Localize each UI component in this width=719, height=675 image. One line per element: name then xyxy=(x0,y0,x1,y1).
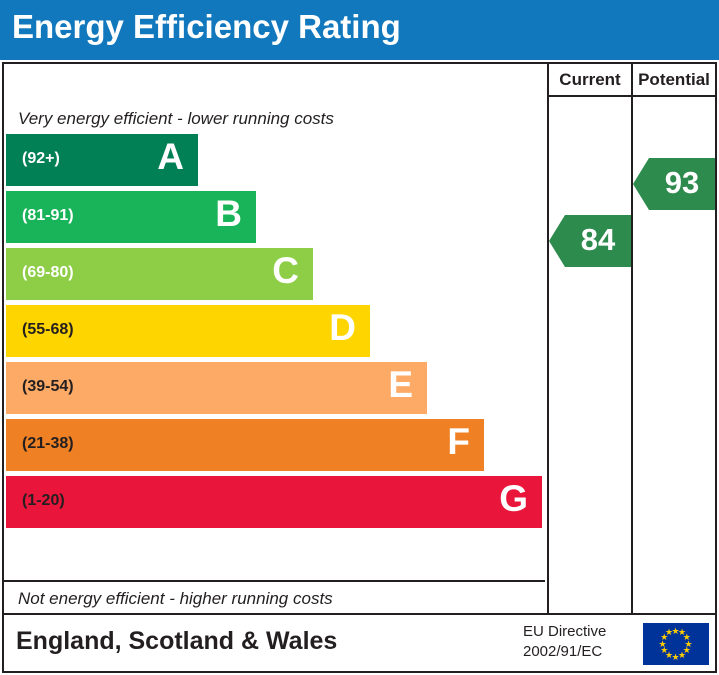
eu-directive-line2: 2002/91/EC xyxy=(523,642,606,662)
potential-rating-marker: 93 xyxy=(649,158,715,210)
band-c: (69-80) C xyxy=(6,248,313,300)
band-g-range: (1-20) xyxy=(22,492,65,510)
eu-star-icon: ★ xyxy=(665,628,673,637)
current-rating-value: 84 xyxy=(581,222,615,258)
chart-footer: England, Scotland & Wales EU Directive 2… xyxy=(2,615,717,673)
band-d-range: (55-68) xyxy=(22,321,74,339)
column-divider-1 xyxy=(547,97,549,613)
band-b: (81-91) B xyxy=(6,191,256,243)
current-marker-arrow xyxy=(549,215,565,267)
band-b-range: (81-91) xyxy=(22,207,74,225)
epc-certificate: Energy Efficiency Rating Current Potenti… xyxy=(0,0,719,675)
column-header-potential: Potential xyxy=(631,64,715,97)
column-header-current-label: Current xyxy=(549,70,631,90)
band-e-range: (39-54) xyxy=(22,378,74,396)
eu-flag-icon: ★★★★★★★★★★★★ xyxy=(643,623,709,665)
band-d-letter: D xyxy=(329,307,356,349)
eu-directive-line1: EU Directive xyxy=(523,622,606,642)
band-d: (55-68) D xyxy=(6,305,370,357)
chart-header: Energy Efficiency Rating xyxy=(0,0,719,60)
caption-efficient: Very energy efficient - lower running co… xyxy=(18,109,334,129)
band-e-letter: E xyxy=(388,364,413,406)
column-header-potential-label: Potential xyxy=(633,70,715,90)
band-g: (1-20) G xyxy=(6,476,542,528)
band-f: (21-38) F xyxy=(6,419,484,471)
band-b-letter: B xyxy=(215,193,242,235)
column-header-current: Current xyxy=(547,64,631,97)
page-title: Energy Efficiency Rating xyxy=(12,8,401,46)
current-rating-marker: 84 xyxy=(565,215,631,267)
caption-inefficient: Not energy efficient - higher running co… xyxy=(18,589,333,609)
bands-bottom-rule xyxy=(4,580,545,582)
rating-chart: Current Potential Very energy efficient … xyxy=(2,62,717,615)
band-a-letter: A xyxy=(157,136,184,178)
region-label: England, Scotland & Wales xyxy=(16,627,337,656)
band-g-letter: G xyxy=(499,478,528,520)
band-c-letter: C xyxy=(272,250,299,292)
potential-rating-value: 93 xyxy=(665,165,699,201)
eu-directive-text: EU Directive 2002/91/EC xyxy=(523,622,606,662)
potential-marker-arrow xyxy=(633,158,649,210)
band-a: (92+) A xyxy=(6,134,198,186)
band-e: (39-54) E xyxy=(6,362,427,414)
band-f-letter: F xyxy=(447,421,470,463)
band-c-range: (69-80) xyxy=(22,264,74,282)
band-a-range: (92+) xyxy=(22,150,60,168)
band-f-range: (21-38) xyxy=(22,435,74,453)
